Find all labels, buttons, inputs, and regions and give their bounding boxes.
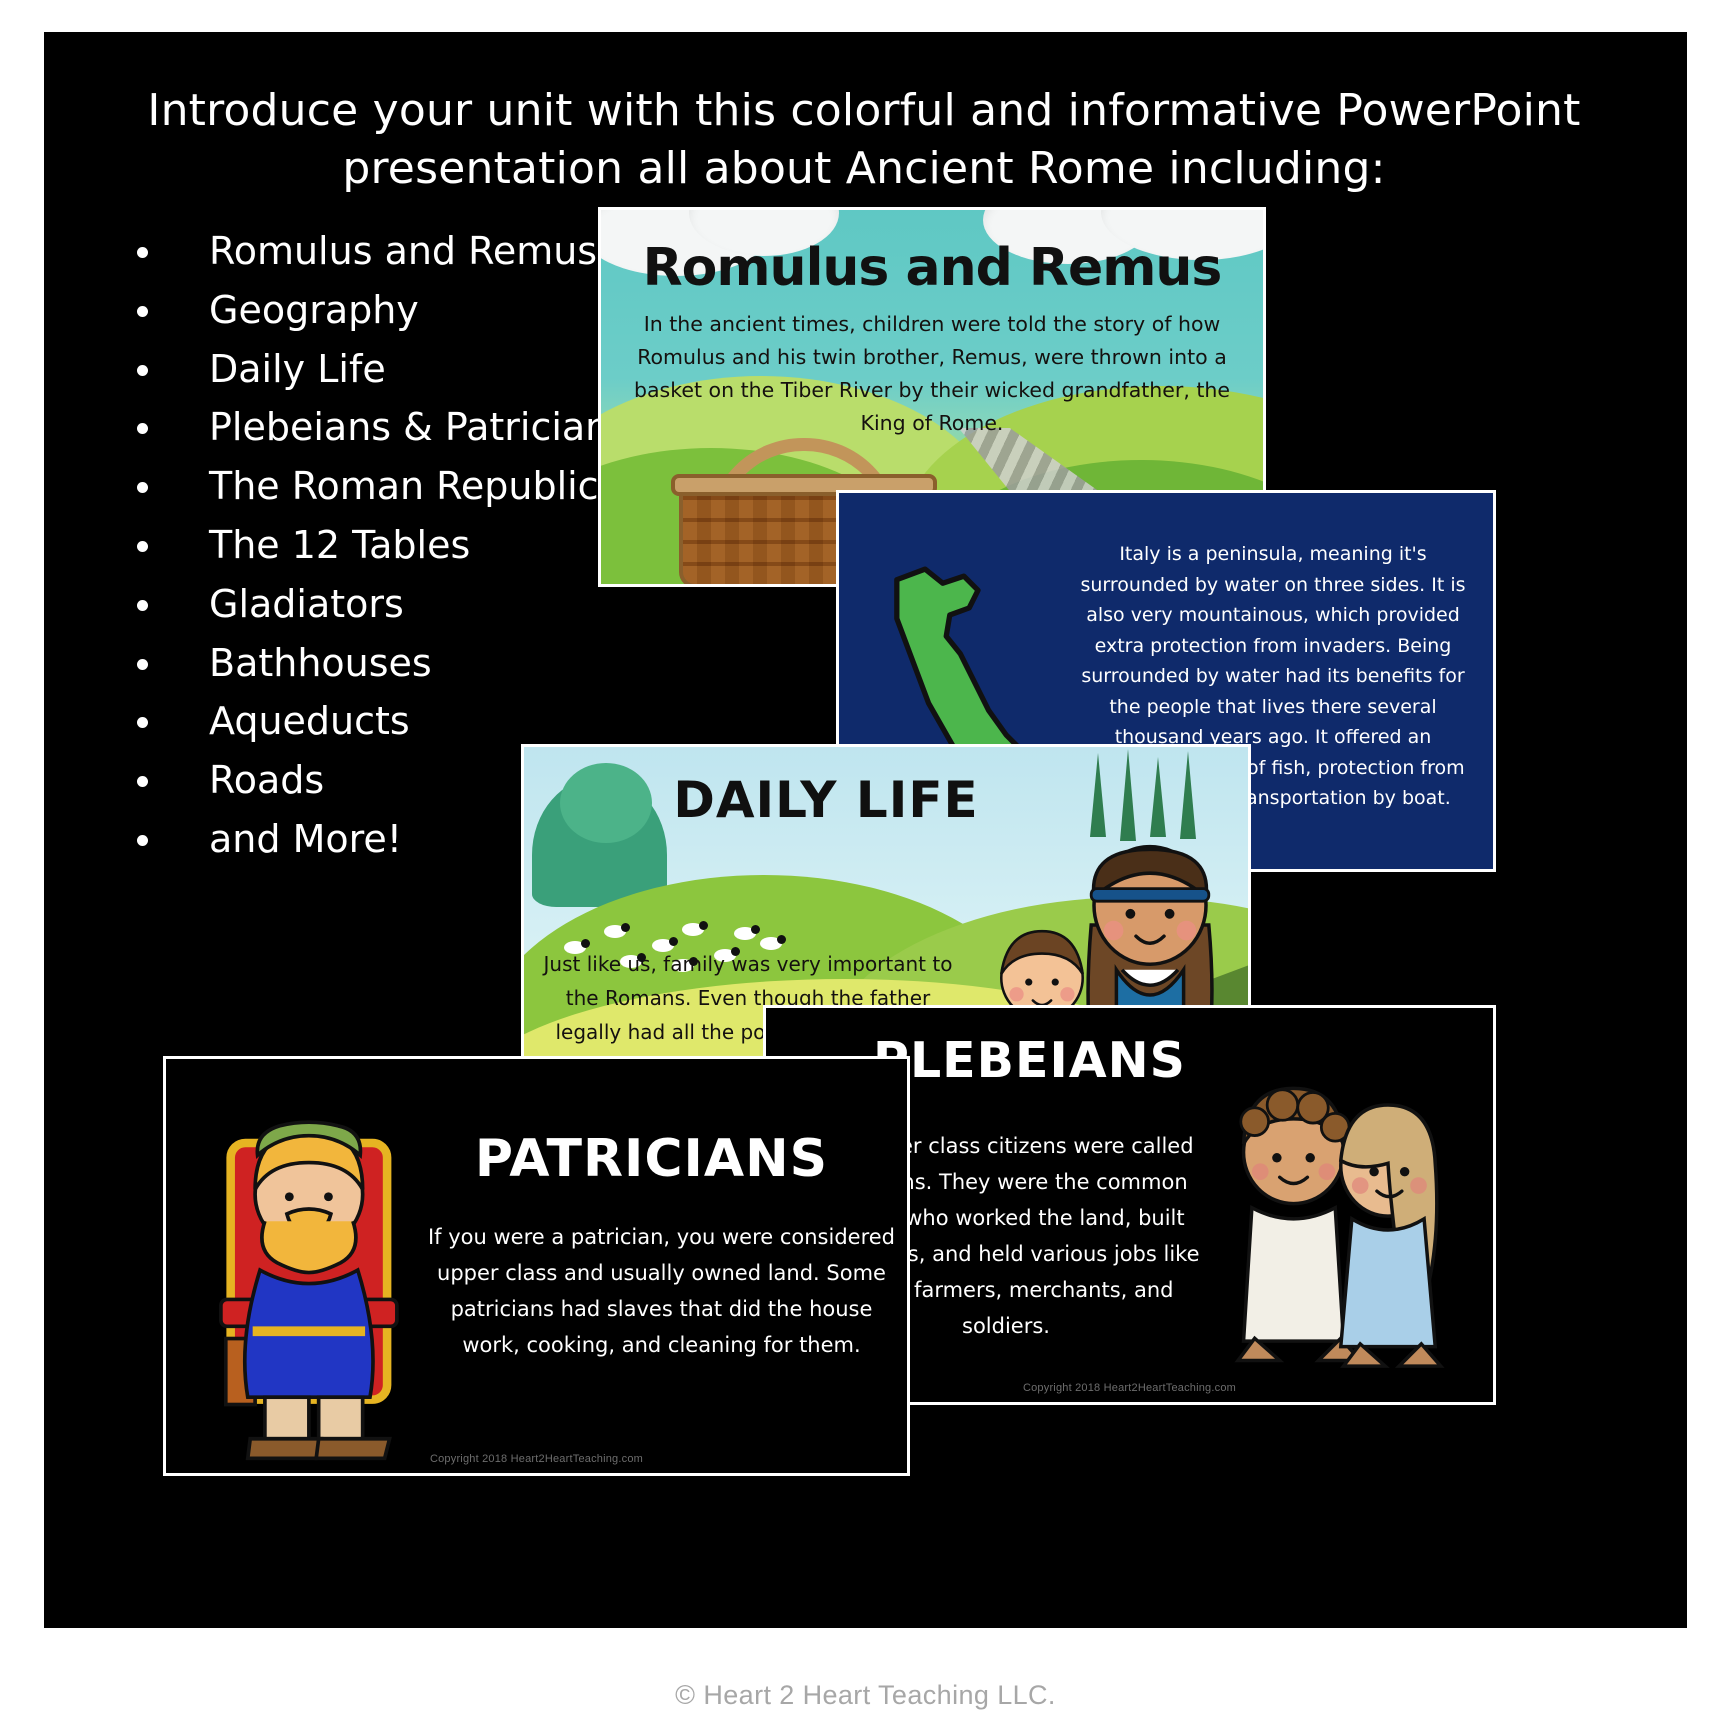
bullet-dot (137, 600, 148, 611)
slide-title: Romulus and Remus (601, 238, 1263, 298)
slide-body-text: In the ancient times, children were told… (631, 308, 1233, 440)
slide-title: DAILY LIFE (524, 771, 1248, 829)
list-item: The 12 Tables (104, 516, 624, 575)
bullet-dot (137, 835, 148, 846)
bullet-dot (137, 541, 148, 552)
slide-title: PATRICIANS (396, 1129, 907, 1189)
bullet-dot (137, 482, 148, 493)
sheep-icon (604, 925, 626, 938)
list-item: Geography (104, 281, 624, 340)
bullet-dot (137, 423, 148, 434)
list-item-label: Gladiators (209, 582, 404, 626)
list-item-label: Roads (209, 758, 324, 802)
list-item-label: and More! (209, 817, 402, 861)
sheep-icon (734, 927, 756, 940)
list-item: Plebeians & Patricians (104, 398, 624, 457)
list-item: Bathhouses (104, 634, 624, 693)
list-item-label: Aqueducts (209, 699, 410, 743)
poster-panel: Introduce your unit with this colorful a… (44, 32, 1687, 1628)
bullet-dot (137, 776, 148, 787)
slide-preview-patricians[interactable]: PATRICIANS If you were a patrician, you … (163, 1056, 910, 1476)
list-item-label: Romulus and Remus (209, 229, 597, 273)
bullet-dot (137, 717, 148, 728)
bullet-dot (137, 365, 148, 376)
bullet-dot (137, 306, 148, 317)
list-item: The Roman Republic (104, 457, 624, 516)
page-title: Introduce your unit with this colorful a… (144, 82, 1584, 198)
list-item-label: Plebeians & Patricians (209, 405, 629, 449)
list-item: Aqueducts (104, 692, 624, 751)
list-item-label: Geography (209, 288, 419, 332)
list-item: Romulus and Remus (104, 222, 624, 281)
slide-body-text: If you were a patrician, you were consid… (426, 1219, 897, 1363)
footer-copyright: © Heart 2 Heart Teaching LLC. (0, 1680, 1731, 1711)
plebeian-characters-illustration (1213, 1080, 1463, 1380)
bullet-dot (137, 659, 148, 670)
list-item-label: The Roman Republic (209, 464, 599, 508)
bullet-dot (137, 247, 148, 258)
list-item: Daily Life (104, 340, 624, 399)
list-item-label: Bathhouses (209, 641, 432, 685)
slide-copyright: Copyright 2018 Heart2HeartTeaching.com (166, 1453, 907, 1465)
poster-page: Introduce your unit with this colorful a… (0, 0, 1731, 1731)
list-item-label: Daily Life (209, 347, 386, 391)
list-item: Gladiators (104, 575, 624, 634)
sheep-icon (682, 923, 704, 936)
list-item-label: The 12 Tables (209, 523, 470, 567)
